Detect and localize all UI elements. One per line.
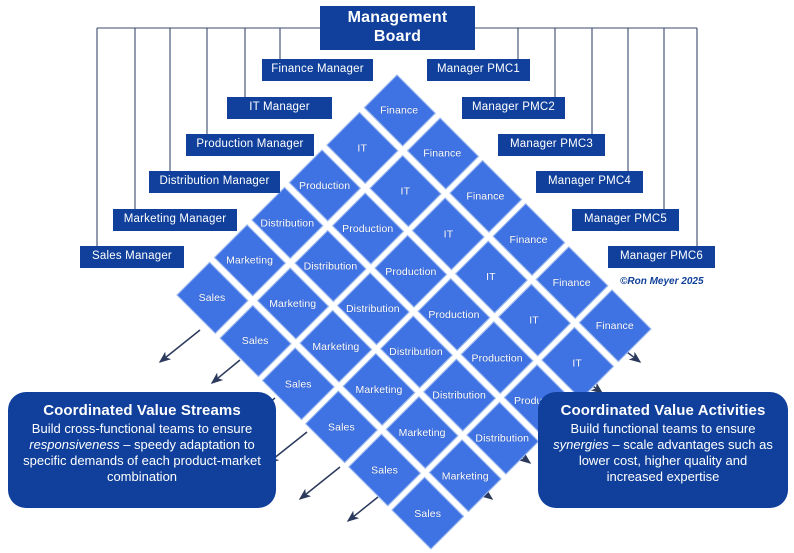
management-board-label: Management Board <box>348 9 448 47</box>
matrix-cell-label: Marketing <box>313 340 360 352</box>
functional-manager-box-label-3: Production Manager <box>196 138 303 151</box>
matrix-cell-label: Sales <box>414 507 441 519</box>
matrix-cell-label: IT <box>358 142 368 154</box>
functional-manager-box-6[interactable]: Sales Manager <box>80 246 184 268</box>
callout-value-activities: Coordinated Value Activities Build funct… <box>538 392 788 508</box>
functional-manager-box-2[interactable]: IT Manager <box>227 97 332 119</box>
pmc-manager-box-label-2: Manager PMC2 <box>472 101 555 114</box>
value-stream-arrow-2 <box>212 360 240 383</box>
pmc-manager-box-1[interactable]: Manager PMC1 <box>427 59 530 81</box>
functional-manager-box-label-6: Sales Manager <box>92 250 172 263</box>
pmc-manager-box-3[interactable]: Manager PMC3 <box>498 134 605 156</box>
matrix-cell-label: Marketing <box>226 254 273 266</box>
matrix-cell-label: Production <box>428 309 479 321</box>
matrix-cell-label: Distribution <box>304 260 358 272</box>
pmc-manager-box-5[interactable]: Manager PMC5 <box>572 209 679 231</box>
callout-right-body-italic: synergies <box>553 437 609 452</box>
matrix-cell-label: Production <box>342 222 393 234</box>
matrix-cell-label: Marketing <box>399 427 446 439</box>
pmc-manager-box-6[interactable]: Manager PMC6 <box>608 246 715 268</box>
functional-manager-box-label-2: IT Manager <box>249 101 310 114</box>
matrix-cell-label: Distribution <box>390 346 444 358</box>
matrix-cell-label: Marketing <box>356 384 403 396</box>
functional-manager-box-4[interactable]: Distribution Manager <box>149 171 280 193</box>
matrix-cell-label: IT <box>573 357 583 369</box>
callout-value-streams: Coordinated Value Streams Build cross-fu… <box>8 392 276 508</box>
matrix-cell-label: Finance <box>596 320 634 332</box>
functional-manager-box-label-5: Marketing Manager <box>124 213 226 226</box>
matrix-cell-label: IT <box>401 185 411 197</box>
matrix-cell-label: IT <box>487 271 497 283</box>
matrix-cell-label: Finance <box>553 277 591 289</box>
drop-line-pmc-3 <box>498 28 592 145</box>
matrix-cell-label: Finance <box>467 191 505 203</box>
pmc-manager-box-label-3: Manager PMC3 <box>510 138 593 151</box>
pmc-manager-box-label-4: Manager PMC4 <box>548 175 631 188</box>
matrix-cell-label: Production <box>299 179 350 191</box>
matrix-cell-label: Sales <box>285 378 312 390</box>
pmc-manager-box-2[interactable]: Manager PMC2 <box>462 97 565 119</box>
matrix-cell-label: Production <box>385 266 436 278</box>
pmc-manager-box-label-1: Manager PMC1 <box>437 63 520 76</box>
functional-manager-box-5[interactable]: Marketing Manager <box>113 209 237 231</box>
callout-right-body: Build functional teams to ensure synergi… <box>550 421 776 484</box>
functional-manager-box-label-4: Distribution Manager <box>159 175 269 188</box>
matrix-cell-label: Distribution <box>347 303 401 315</box>
matrix-cell-label: Finance <box>381 104 419 116</box>
copyright-notice: ©Ron Meyer 2025 <box>620 276 704 287</box>
management-board-box[interactable]: Management Board <box>320 6 475 50</box>
matrix-cell-label: Finance <box>510 234 548 246</box>
diagram-canvas: Management Board Finance ManagerIT Manag… <box>0 0 794 529</box>
callout-left-title: Coordinated Value Streams <box>20 402 264 419</box>
value-stream-arrow-5 <box>300 467 340 499</box>
matrix-cell-label: Sales <box>371 464 398 476</box>
matrix-cell-label: Distribution <box>261 217 315 229</box>
functional-manager-box-1[interactable]: Finance Manager <box>262 59 373 81</box>
value-stream-arrow-1 <box>160 330 200 362</box>
value-stream-arrow-6 <box>348 497 378 521</box>
matrix-cell-label: IT <box>444 228 454 240</box>
callout-right-body-before: Build functional teams to ensure <box>571 421 756 436</box>
callout-right-body-after: – scale advantages such as lower cost, h… <box>579 437 773 484</box>
matrix-cell-label: IT <box>530 314 540 326</box>
functional-manager-box-label-1: Finance Manager <box>271 63 364 76</box>
callout-right-title: Coordinated Value Activities <box>550 402 776 419</box>
callout-left-body: Build cross-functional teams to ensure r… <box>20 421 264 484</box>
matrix-cell-label: Marketing <box>442 470 489 482</box>
pmc-manager-box-label-6: Manager PMC6 <box>620 250 703 263</box>
functional-manager-box-3[interactable]: Production Manager <box>186 134 314 156</box>
drop-line-functional-3 <box>207 28 314 145</box>
matrix-cell-label: Finance <box>424 147 462 159</box>
pmc-manager-box-4[interactable]: Manager PMC4 <box>536 171 643 193</box>
matrix-cell-label: Production <box>472 352 523 364</box>
pmc-manager-box-label-5: Manager PMC5 <box>584 213 667 226</box>
callout-left-body-before: Build cross-functional teams to ensure <box>32 421 252 436</box>
matrix-cell-label: Distribution <box>476 432 530 444</box>
callout-left-body-italic: responsiveness <box>29 437 119 452</box>
matrix-cell-label: Distribution <box>433 389 487 401</box>
matrix-cell-label: Sales <box>242 335 269 347</box>
matrix-cell-label: Sales <box>328 421 355 433</box>
matrix-cell-label: Marketing <box>269 297 316 309</box>
matrix-cell-label: Sales <box>199 292 226 304</box>
